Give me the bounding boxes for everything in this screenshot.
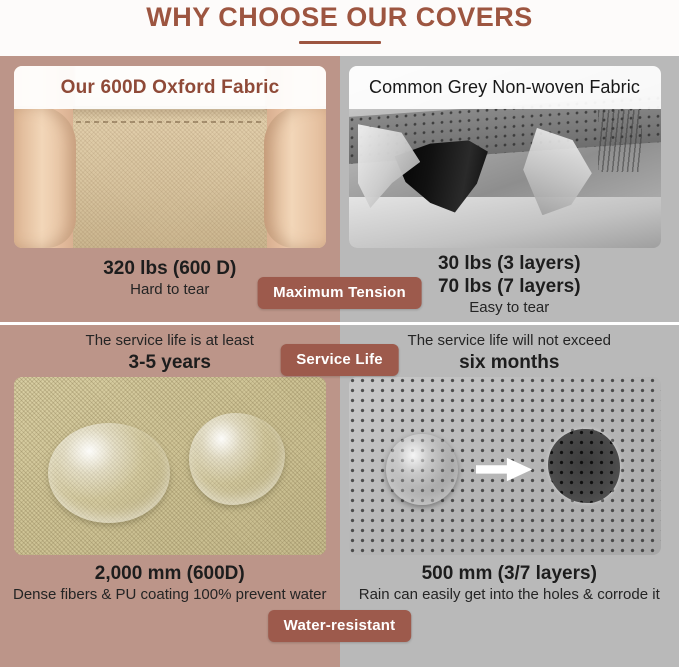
oxford-caption-label: Our 600D Oxford Fabric	[61, 77, 280, 99]
oxford-fabric-photo: Our 600D Oxford Fabric	[14, 66, 326, 248]
title-underline-rule	[299, 41, 381, 44]
water-left-value: 2,000 mm (600D)	[0, 562, 340, 585]
badge-water-resistant: Water-resistant	[268, 610, 412, 642]
right-hand-shape	[264, 106, 326, 248]
left-hand-shape	[14, 106, 76, 248]
badge-service-life: Service Life	[280, 344, 399, 376]
badge-maximum-tension: Maximum Tension	[257, 277, 422, 309]
water-soaking-artwork	[349, 377, 661, 555]
water-bead-small	[189, 413, 286, 506]
water-soaking-photo	[349, 377, 661, 555]
oxford-caption-bar: Our 600D Oxford Fabric	[14, 66, 326, 109]
water-beading-artwork	[14, 377, 326, 555]
water-right-note: Rain can easily get into the holes & cor…	[340, 585, 679, 605]
water-right-stats: 500 mm (3/7 layers) Rain can easily get …	[340, 562, 679, 605]
water-left-stats: 2,000 mm (600D) Dense fibers & PU coatin…	[0, 562, 340, 605]
infographic-page: WHY CHOOSE OUR COVERS Our 600D Oxford Fa…	[0, 0, 679, 667]
arrow-right-icon	[476, 457, 532, 482]
tension-right-value-3layers: 30 lbs (3 layers)	[340, 252, 679, 275]
water-left-note: Dense fibers & PU coating 100% prevent w…	[0, 585, 340, 605]
torn-nonwoven-photo: Common Grey Non-woven Fabric	[349, 66, 661, 248]
nonwoven-caption-bar: Common Grey Non-woven Fabric	[349, 66, 661, 109]
row-divider-rule	[0, 322, 679, 325]
water-right-value: 500 mm (3/7 layers)	[340, 562, 679, 585]
water-droplet-shape	[386, 434, 458, 505]
page-title: WHY CHOOSE OUR COVERS	[146, 2, 533, 33]
absorbed-stain-shape	[548, 429, 620, 504]
water-beading-photo	[14, 377, 326, 555]
fabric-pleat-lines	[598, 110, 642, 172]
nonwoven-caption-label: Common Grey Non-woven Fabric	[369, 77, 640, 98]
page-header: WHY CHOOSE OUR COVERS	[0, 0, 679, 56]
water-bead-large	[48, 423, 170, 523]
fabric-lower-panel	[349, 197, 661, 248]
